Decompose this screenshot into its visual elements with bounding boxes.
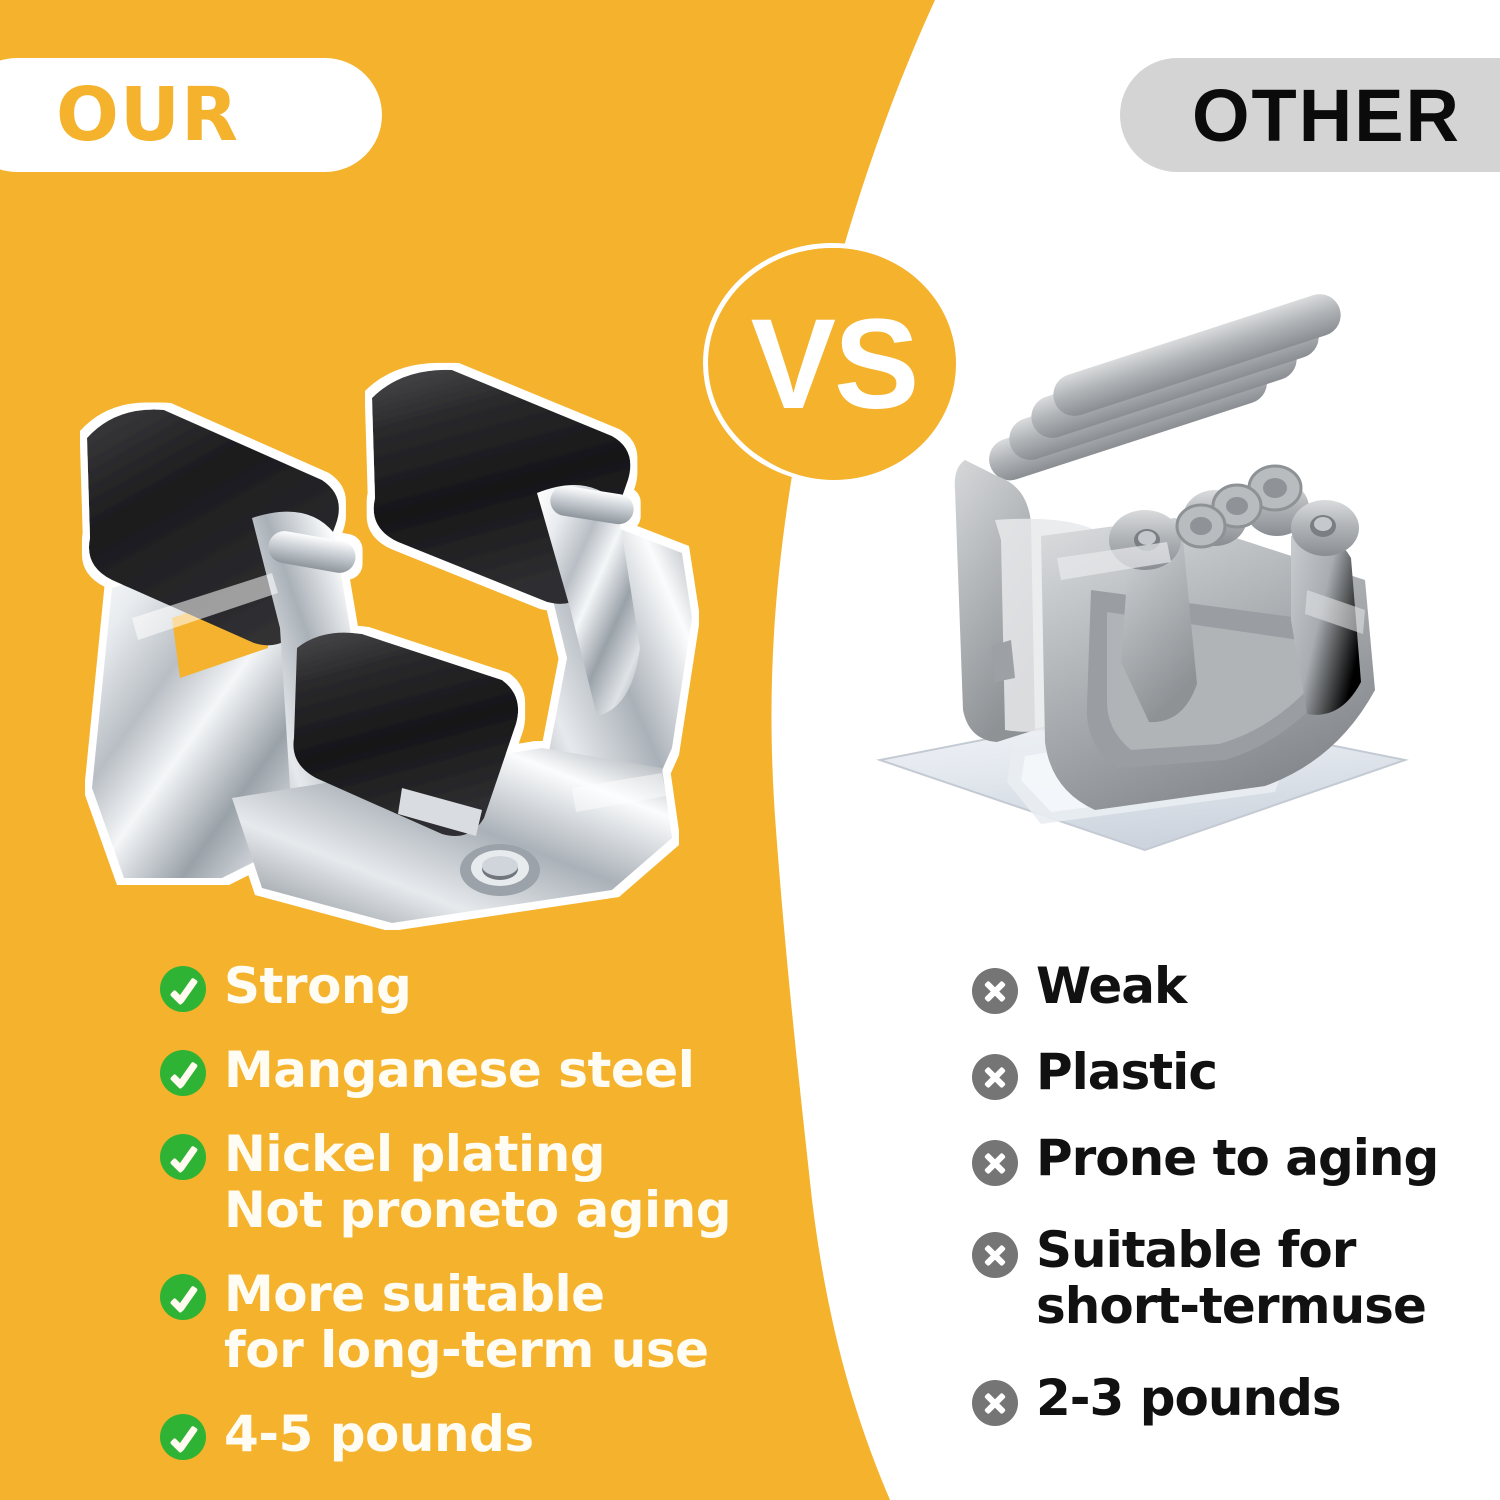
list-item-label: Plastic <box>1036 1044 1217 1100</box>
our-product-image <box>72 318 712 948</box>
list-item-line1: 4-5 pounds <box>224 1405 534 1463</box>
list-item-line1: More suitable <box>224 1265 605 1323</box>
list-item: Suitable for short-termuse <box>972 1222 1472 1334</box>
check-icon <box>160 1414 206 1460</box>
list-item-label: Manganese steel <box>224 1042 694 1098</box>
list-item-line1: Weak <box>1036 957 1186 1015</box>
other-feature-list: Weak Plastic Prone to aging Suitable for… <box>972 958 1472 1456</box>
vs-badge: VS <box>703 243 961 483</box>
list-item-line1: Nickel plating <box>224 1125 605 1183</box>
list-item-label: Prone to aging <box>1036 1130 1438 1186</box>
list-item-label: Weak <box>1036 958 1186 1014</box>
other-badge: OTHER <box>1120 58 1500 172</box>
list-item: Prone to aging <box>972 1130 1472 1186</box>
list-item-line2: short-termuse <box>1036 1278 1426 1334</box>
list-item: 2-3 pounds <box>972 1370 1472 1426</box>
list-item-line1: Suitable for <box>1036 1221 1355 1279</box>
list-item: More suitable for long-term use <box>160 1266 740 1378</box>
check-icon <box>160 1274 206 1320</box>
list-item-label: Nickel plating Not proneto aging <box>224 1126 731 1238</box>
cross-icon <box>972 1140 1018 1186</box>
list-item: Strong <box>160 958 740 1014</box>
other-badge-label: OTHER <box>1192 73 1461 158</box>
list-item: 4-5 pounds <box>160 1406 740 1462</box>
list-item-line2: for long-term use <box>224 1322 709 1378</box>
list-item-label: 2-3 pounds <box>1036 1370 1341 1426</box>
list-item-label: Suitable for short-termuse <box>1036 1222 1426 1334</box>
list-item-label: Strong <box>224 958 411 1014</box>
list-item: Nickel plating Not proneto aging <box>160 1126 740 1238</box>
cross-icon <box>972 1054 1018 1100</box>
list-item-line1: Plastic <box>1036 1043 1217 1101</box>
cross-icon <box>972 1380 1018 1426</box>
check-icon <box>160 1050 206 1096</box>
cross-icon <box>972 968 1018 1014</box>
list-item-line1: Manganese steel <box>224 1041 694 1099</box>
check-icon <box>160 966 206 1012</box>
our-badge: OUR <box>0 58 382 172</box>
vs-label: VS <box>712 248 956 480</box>
list-item-line2: Not proneto aging <box>224 1182 731 1238</box>
comparison-infographic: OUR OTHER <box>0 0 1500 1500</box>
check-icon <box>160 1134 206 1180</box>
list-item: Weak <box>972 958 1472 1014</box>
list-item-line1: Strong <box>224 957 411 1015</box>
list-item-label: More suitable for long-term use <box>224 1266 709 1378</box>
list-item: Plastic <box>972 1044 1472 1100</box>
list-item-line1: 2-3 pounds <box>1036 1369 1341 1427</box>
our-badge-label: OUR <box>56 72 239 158</box>
list-item: Manganese steel <box>160 1042 740 1098</box>
list-item-line1: Prone to aging <box>1036 1129 1438 1187</box>
our-feature-list: Strong Manganese steel Nickel plating No… <box>160 958 740 1490</box>
cross-icon <box>972 1232 1018 1278</box>
list-item-label: 4-5 pounds <box>224 1406 534 1462</box>
